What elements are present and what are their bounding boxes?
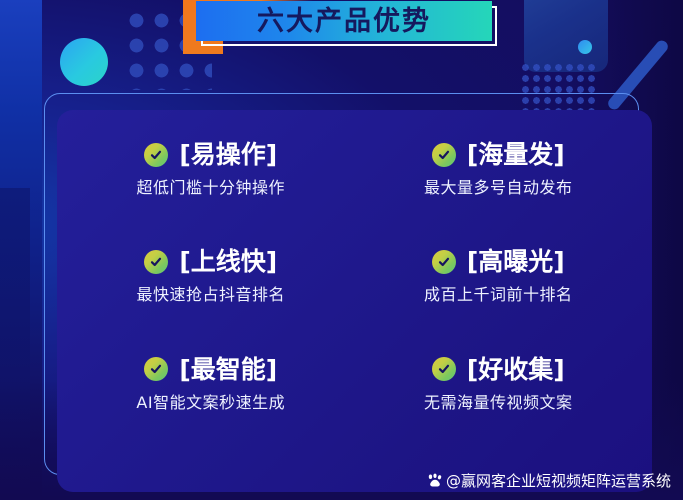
- feature-item-4: [高曝光] 成百上千词前十排名: [355, 249, 643, 356]
- watermark-text: @赢网客企业短视频矩阵运营系统: [446, 474, 671, 489]
- feature-subtitle: 最大量多号自动发布: [424, 180, 573, 196]
- feature-item-6: [好收集] 无需海量传视频文案: [355, 357, 643, 464]
- check-circle-icon: [144, 143, 168, 167]
- circle-large-decoration: [60, 38, 108, 86]
- feature-item-3: [上线快] 最快速抢占抖音排名: [67, 249, 355, 356]
- feature-subtitle: AI智能文案秒速生成: [136, 395, 285, 411]
- feature-heading: [上线快]: [144, 249, 277, 274]
- check-circle-icon: [144, 250, 168, 274]
- feature-grid: [易操作] 超低门槛十分钟操作 [海量发] 最大量多号自动发布: [57, 110, 652, 492]
- feature-heading: [高曝光]: [432, 249, 565, 274]
- banner-gradient-bar: 六大产品优势: [196, 1, 492, 41]
- feature-subtitle: 成百上千词前十排名: [424, 287, 573, 303]
- feature-title: [高曝光]: [467, 249, 565, 274]
- check-circle-icon: [432, 143, 456, 167]
- feature-title: [海量发]: [467, 142, 565, 167]
- title-banner: 六大产品优势: [183, 0, 503, 80]
- page-title: 六大产品优势: [257, 8, 431, 35]
- check-circle-icon: [432, 250, 456, 274]
- watermark: @赢网客企业短视频矩阵运营系统: [427, 473, 671, 489]
- feature-subtitle: 最快速抢占抖音排名: [136, 287, 285, 303]
- feature-item-2: [海量发] 最大量多号自动发布: [355, 142, 643, 249]
- feature-item-5: [最智能] AI智能文案秒速生成: [67, 357, 355, 464]
- check-circle-icon: [144, 357, 168, 381]
- feature-heading: [海量发]: [432, 142, 565, 167]
- feature-title: [上线快]: [179, 249, 277, 274]
- circle-small-decoration: [578, 40, 592, 54]
- feature-subtitle: 无需海量传视频文案: [424, 395, 573, 411]
- feature-subtitle: 超低门槛十分钟操作: [136, 180, 285, 196]
- feature-heading: [最智能]: [144, 357, 277, 382]
- feature-title: [好收集]: [467, 357, 565, 382]
- feature-title: [最智能]: [179, 357, 277, 382]
- baidu-paw-icon: [427, 473, 443, 489]
- check-circle-icon: [432, 357, 456, 381]
- feature-item-1: [易操作] 超低门槛十分钟操作: [67, 142, 355, 249]
- feature-heading: [好收集]: [432, 357, 565, 382]
- feature-title: [易操作]: [179, 142, 277, 167]
- poster-canvas: 六大产品优势 [易操作] 超低门槛十分钟操作: [0, 0, 683, 500]
- feature-heading: [易操作]: [144, 142, 277, 167]
